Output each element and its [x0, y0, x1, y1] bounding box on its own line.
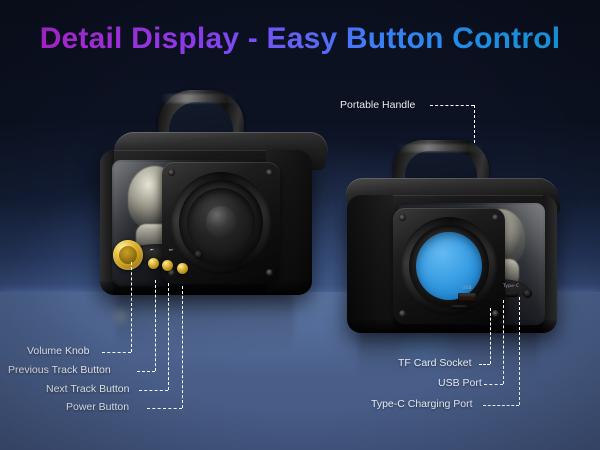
right-speaker-driver [393, 208, 505, 324]
callout-portable-handle-leader-v [474, 105, 475, 143]
callout-next-track-leader-v [168, 283, 169, 390]
callout-power-button-leader-h [147, 408, 182, 409]
tf-card-socket[interactable] [451, 305, 467, 309]
callout-volume-knob-label: Volume Knob [27, 345, 89, 357]
type-c-port-marking: Type-C [503, 284, 519, 289]
poster-canvas: ⏮ ⏭ [0, 0, 600, 450]
callout-next-track-label: Next Track Button [46, 383, 129, 395]
callout-type-c-charging-port-leader-h [483, 405, 519, 406]
previous-track-icon: ⏮ [150, 248, 154, 252]
callout-power-button-leader-v [182, 286, 183, 408]
callout-previous-track-label: Previous Track Button [8, 364, 111, 376]
volume-knob[interactable] [113, 240, 143, 270]
callout-tf-card-socket-leader-v [490, 308, 491, 364]
callout-volume-knob-leader-h [102, 352, 131, 353]
callout-tf-card-socket-leader-h [479, 364, 490, 365]
usb-port[interactable] [458, 293, 476, 302]
callout-usb-port-leader-v [503, 300, 504, 384]
right-speaker[interactable]: USB Type-C [345, 140, 570, 335]
callout-type-c-charging-port-leader-v [519, 297, 520, 405]
driver-screw [492, 214, 499, 221]
callout-power-button-label: Power Button [66, 401, 129, 413]
callout-usb-port-leader-h [484, 384, 503, 385]
callout-portable-handle-leader-h [430, 105, 474, 106]
driver-screw [266, 169, 273, 176]
power-button[interactable] [177, 263, 188, 274]
previous-track-button[interactable] [148, 258, 159, 269]
next-track-button[interactable] [162, 260, 173, 271]
driver-screw [399, 310, 406, 317]
aux-jack[interactable] [194, 250, 203, 259]
callout-tf-card-socket-label: TF Card Socket [398, 357, 472, 369]
driver-screw [168, 169, 175, 176]
callout-usb-port-label: USB Port [438, 377, 482, 389]
callout-portable-handle-label: Portable Handle [340, 99, 415, 111]
left-speaker[interactable]: ⏮ ⏭ [100, 90, 330, 300]
callout-next-track-leader-h [139, 390, 168, 391]
blue-speaker-cone [416, 232, 482, 300]
callout-type-c-charging-port-label: Type-C Charging Port [371, 398, 473, 410]
callout-previous-track-leader-v [155, 280, 156, 371]
callout-volume-knob-leader-v [131, 262, 132, 352]
aux-jack[interactable] [523, 289, 532, 298]
driver-screw [266, 269, 273, 276]
type-c-charging-port[interactable] [505, 292, 518, 297]
driver-screw [399, 214, 406, 221]
driver-screw [492, 310, 499, 317]
usb-port-marking: USB [462, 286, 472, 291]
callout-previous-track-leader-h [137, 371, 155, 372]
next-track-icon: ⏭ [169, 248, 173, 252]
page-title: Detail Display - Easy Button Control [0, 22, 600, 56]
